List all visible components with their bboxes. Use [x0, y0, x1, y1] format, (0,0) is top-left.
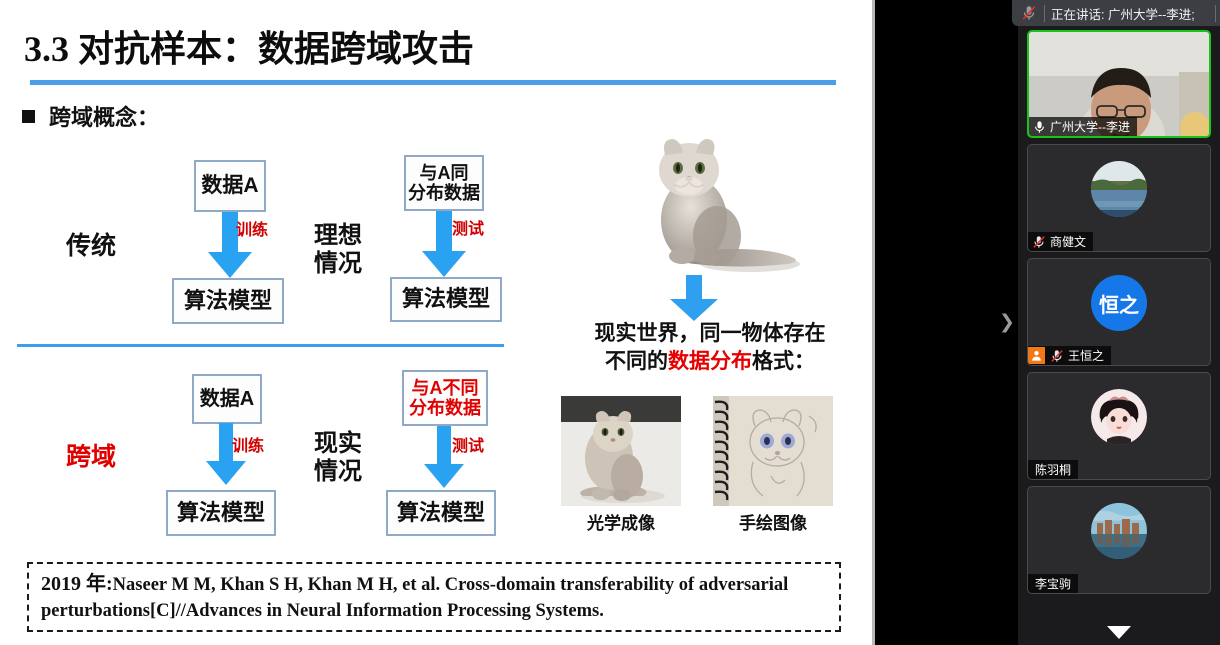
row1-middle-label-line2: 情况 [300, 250, 376, 278]
host-badge-icon [1028, 347, 1045, 364]
row1-right-top-box: 与A同 分布数据 [404, 155, 484, 211]
participant-name-0: 广州大学--李进 [1050, 118, 1130, 135]
mic-muted-icon[interactable] [1020, 4, 1038, 22]
mic-muted-icon [1032, 235, 1046, 249]
participant-tile-0[interactable]: 广州大学--李进 [1027, 30, 1211, 138]
handdrawn-image-photo [713, 396, 833, 506]
slide-right-edge [872, 0, 875, 645]
topbar-divider [1044, 5, 1045, 22]
citation-year: 2019 年: [41, 573, 113, 595]
row2-middle-label: 现实 情况 [300, 430, 376, 485]
participant-name-chip-3: 陈羽桐 [1028, 460, 1078, 479]
row2-middle-label-line1: 现实 [300, 430, 376, 458]
mic-muted-icon [1050, 349, 1064, 363]
statement-highlight: 数据分布 [668, 350, 752, 373]
participant-panel[interactable]: 广州大学--李进 [1018, 26, 1220, 645]
title-underline [30, 80, 836, 85]
row1-middle-label-line1: 理想 [300, 222, 376, 250]
real-world-statement: 现实世界，同一物体存在 不同的数据分布格式： [560, 320, 860, 377]
row2-left-arrow-label: 训练 [232, 432, 264, 456]
bullet-heading: 跨域概念： [22, 100, 159, 132]
row1-right-bottom-box: 算法模型 [390, 277, 502, 322]
chevron-down-icon[interactable] [1107, 626, 1131, 639]
participant-name-chip-0: 广州大学--李进 [1029, 117, 1137, 136]
row1-side-label: 传统 [48, 232, 134, 261]
cat-photo-large [632, 128, 802, 283]
participant-name-1: 商健文 [1050, 233, 1086, 250]
participant-tile-4[interactable]: 李宝驹 [1027, 486, 1211, 594]
participant-name-chip-4: 李宝驹 [1028, 574, 1078, 593]
participant-name-chip-1: 商健文 [1028, 232, 1093, 251]
row1-left-bottom-box: 算法模型 [172, 278, 284, 324]
statement-line2-prefix: 不同的 [605, 350, 668, 373]
participant-name-chip-2: 王恒之 [1028, 346, 1111, 365]
optical-image-caption: 光学成像 [561, 509, 681, 534]
row1-left-arrow-label: 训练 [236, 216, 268, 240]
mic-on-icon [1033, 120, 1046, 134]
statement-line2-suffix: 格式： [752, 350, 815, 373]
chevron-right-icon[interactable]: ❯ [998, 312, 1016, 334]
row2-side-label: 跨域 [48, 443, 134, 472]
participant-name-4: 李宝驹 [1035, 575, 1071, 592]
participant-tile-2[interactable]: 恒之 王恒之 [1027, 258, 1211, 366]
bullet-heading-label: 跨域概念： [49, 100, 159, 132]
speaking-status-text: 正在讲话: 广州大学--李进; [1051, 4, 1195, 23]
row1-left-top-box: 数据A [194, 160, 266, 212]
participant-avatar-2: 恒之 [1091, 275, 1147, 331]
participant-tile-1[interactable]: 商健文 [1027, 144, 1211, 252]
citation-box: 2019 年:Naseer M M, Khan S H, Khan M H, e… [27, 562, 841, 632]
participant-avatar-4 [1091, 503, 1147, 559]
speaking-status-bar: 正在讲话: 广州大学--李进; [1012, 0, 1220, 26]
handdrawn-image-caption: 手绘图像 [713, 509, 833, 534]
optical-image-photo [561, 396, 681, 506]
row2-left-bottom-box: 算法模型 [166, 490, 276, 536]
row2-right-arrow-label: 测试 [452, 432, 484, 456]
screen: 3.3 对抗样本：数据跨域攻击 跨域概念： 传统 数据A 训练 算法模型 理想 … [0, 0, 1220, 645]
participant-avatar-1 [1091, 161, 1147, 217]
row1-right-arrow-label: 测试 [452, 215, 484, 239]
participant-name-3: 陈羽桐 [1035, 461, 1071, 478]
presentation-slide: 3.3 对抗样本：数据跨域攻击 跨域概念： 传统 数据A 训练 算法模型 理想 … [0, 0, 872, 645]
row1-right-top-box-line1: 与A同 [420, 163, 469, 183]
world-arrow-icon [668, 275, 720, 323]
topbar-divider-right [1215, 5, 1216, 22]
bullet-square-icon [22, 110, 35, 123]
participant-name-2: 王恒之 [1068, 347, 1104, 364]
citation-text: Naseer M M, Khan S H, Khan M H, et al. C… [41, 575, 788, 621]
row1-right-top-box-line2: 分布数据 [408, 183, 480, 203]
row2-right-top-box-line2: 分布数据 [409, 398, 481, 418]
row2-right-top-box-line1: 与A不同 [412, 378, 479, 398]
statement-line1: 现实世界，同一物体存在 [595, 322, 826, 345]
participant-avatar-3 [1091, 389, 1147, 445]
row2-left-top-box: 数据A [192, 374, 262, 424]
row2-right-bottom-box: 算法模型 [386, 490, 496, 536]
participant-initials-2: 恒之 [1099, 289, 1139, 318]
row2-right-top-box: 与A不同 分布数据 [402, 370, 488, 426]
slide-title: 3.3 对抗样本：数据跨域攻击 [24, 20, 474, 72]
section-divider [17, 344, 504, 347]
row1-middle-label: 理想 情况 [300, 222, 376, 277]
row2-middle-label-line2: 情况 [300, 458, 376, 486]
participant-tile-3[interactable]: 陈羽桐 [1027, 372, 1211, 480]
